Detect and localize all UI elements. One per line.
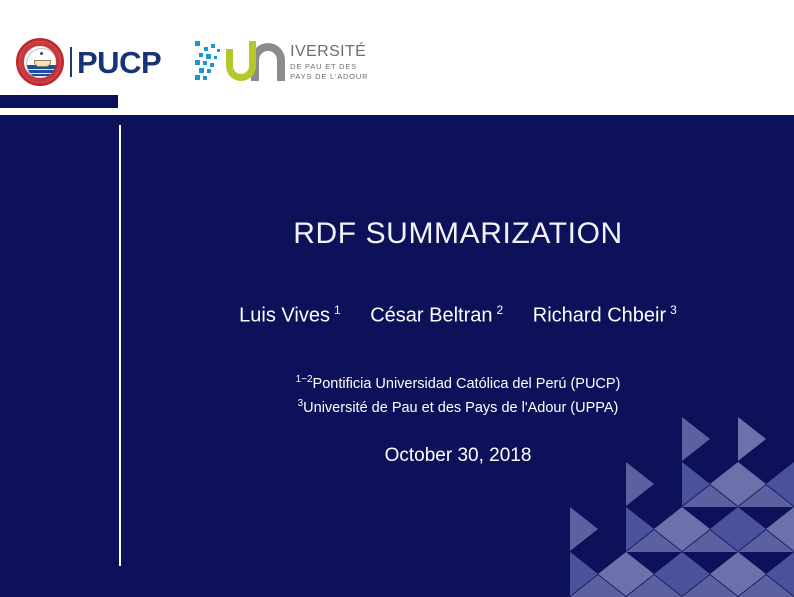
slide-content: RDF SUMMARIZATION Luis Vives1 César Belt…	[122, 115, 794, 597]
uppa-line-2: DE PAU ET DES	[290, 63, 368, 71]
author-item: César Beltran2	[370, 303, 503, 328]
pucp-wordmark: PUCP	[77, 47, 161, 78]
author-marker: 1	[334, 303, 341, 317]
slide-date: October 30, 2018	[122, 445, 794, 467]
header-white-gap	[0, 108, 794, 115]
author-name: Richard Chbeir	[533, 305, 666, 327]
uppa-logo: IVERSITÉ DE PAU ET DES PAYS DE L'ADOUR	[195, 37, 368, 87]
pucp-divider	[70, 47, 72, 77]
affiliation-item: 3Université de Pau et des Pays de l'Adou…	[122, 394, 794, 418]
affiliation-item: 1−2Pontificia Universidad Católica del P…	[122, 370, 794, 394]
pucp-seal-icon	[16, 38, 64, 86]
uppa-u-tail	[249, 41, 256, 61]
author-name: César Beltran	[370, 305, 492, 327]
slide-header: PUCP	[0, 0, 794, 95]
author-marker: 3	[670, 303, 677, 317]
uppa-n-shape	[251, 43, 285, 81]
author-list: Luis Vives1 César Beltran2 Richard Chbei…	[122, 303, 794, 328]
slide-title: RDF SUMMARIZATION	[122, 217, 794, 251]
author-item: Richard Chbeir3	[533, 303, 677, 328]
vertical-rule	[119, 125, 121, 566]
uppa-pixel-icon	[195, 39, 225, 85]
uppa-line-3: PAYS DE L'ADOUR	[290, 73, 368, 81]
affiliation-text: Pontificia Universidad Católica del Perú…	[313, 376, 621, 392]
affiliation-list: 1−2Pontificia Universidad Católica del P…	[122, 370, 794, 418]
author-name: Luis Vives	[239, 305, 330, 327]
affiliation-text: Université de Pau et des Pays de l'Adour…	[303, 400, 618, 416]
pucp-logo: PUCP	[16, 37, 161, 87]
logo-row: PUCP	[16, 36, 368, 88]
uppa-wordmark: IVERSITÉ DE PAU ET DES PAYS DE L'ADOUR	[290, 44, 368, 80]
affiliation-marker: 1−2	[296, 374, 313, 385]
uppa-line-1: IVERSITÉ	[290, 44, 368, 60]
title-slide: PUCP	[0, 0, 794, 597]
author-marker: 2	[497, 303, 504, 317]
header-accent-bar	[0, 95, 118, 108]
author-item: Luis Vives1	[239, 303, 340, 328]
uppa-un-mark-icon	[226, 39, 288, 85]
pucp-seal-ring	[19, 41, 61, 83]
